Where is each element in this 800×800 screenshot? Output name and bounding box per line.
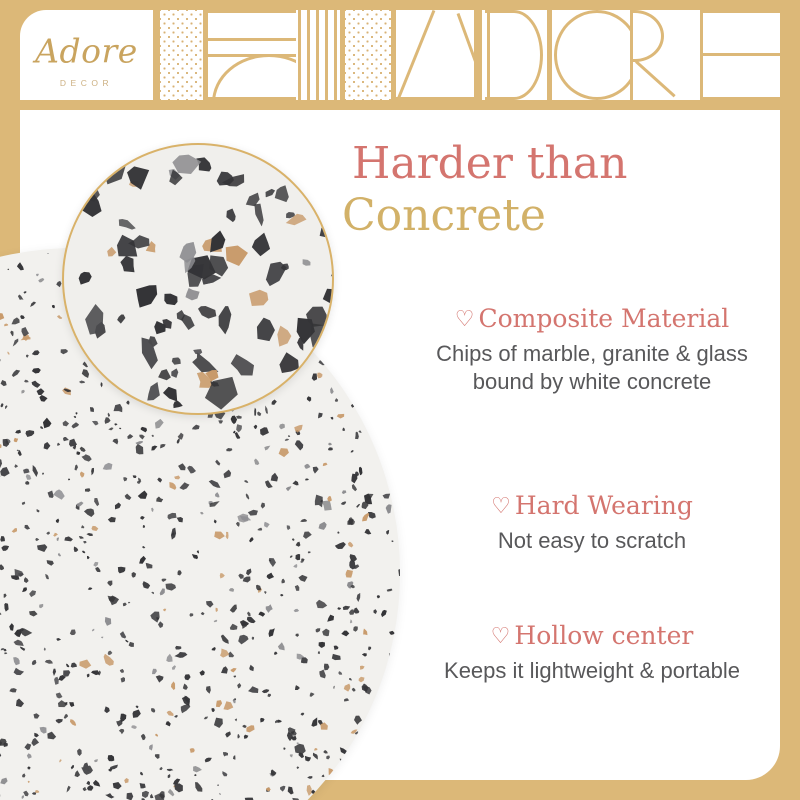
wordmark-letter-r xyxy=(630,10,708,100)
feature-body: Chips of marble, granite & glass bound b… xyxy=(406,340,778,396)
infographic-canvas: Adore DECOR xyxy=(0,0,800,800)
feature-title: ♡Hard Wearing xyxy=(406,492,778,521)
dot-pattern-panel-right xyxy=(345,10,391,100)
stripe-pattern-panel xyxy=(296,10,340,100)
feature-body: Keeps it lightweight & portable xyxy=(406,657,778,685)
wordmark-letter-e-right xyxy=(700,10,780,100)
wordmark-letter-d xyxy=(479,10,547,100)
logo-subtitle-text: DECOR xyxy=(60,78,113,88)
logo-panel: Adore DECOR xyxy=(20,10,153,100)
headline-line-2: Concrete xyxy=(342,194,782,238)
feature-title: ♡Hollow center xyxy=(406,622,778,651)
heart-icon: ♡ xyxy=(491,494,511,519)
feature-title-text: Composite Material xyxy=(478,304,729,333)
headline-line-1: Harder than xyxy=(352,142,782,186)
headline: Harder than Concrete xyxy=(352,142,782,238)
heart-icon: ♡ xyxy=(491,624,511,649)
dot-pattern-panel-left xyxy=(160,10,203,100)
feature-item-hard-wearing: ♡Hard Wearing Not easy to scratch xyxy=(406,492,778,555)
feature-body: Not easy to scratch xyxy=(406,527,778,555)
feature-item-composite-material: ♡Composite Material Chips of marble, gra… xyxy=(406,305,778,396)
feature-item-hollow-center: ♡Hollow center Keeps it lightweight & po… xyxy=(406,622,778,685)
brand-header: Adore DECOR xyxy=(0,0,800,110)
heart-icon: ♡ xyxy=(455,307,475,332)
feature-title-text: Hollow center xyxy=(514,621,693,650)
logo-script-text: Adore xyxy=(35,32,138,71)
wordmark-letter-a xyxy=(396,10,474,100)
feature-title: ♡Composite Material xyxy=(406,305,778,334)
feature-title-text: Hard Wearing xyxy=(515,491,693,520)
terrazzo-detail-magnifier xyxy=(62,143,334,415)
